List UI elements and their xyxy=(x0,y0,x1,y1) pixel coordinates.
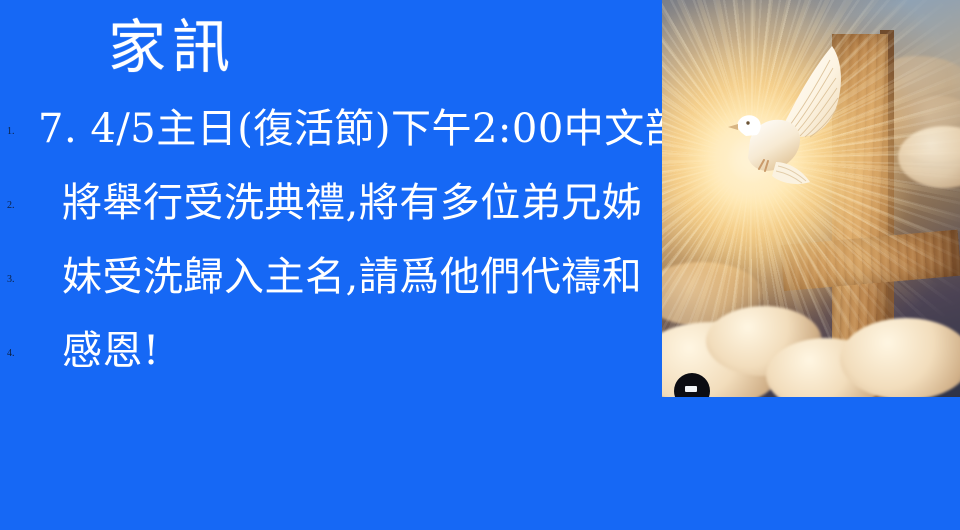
list-item-text: 感恩! xyxy=(62,323,160,379)
announcement-list: 1. 7. 4/5主日(復活節)下午2:00中文部 2. 將舉行受洗典禮,將有多… xyxy=(0,101,660,397)
slide-title: 家訊 xyxy=(108,17,628,78)
list-item-marker: 4. xyxy=(7,349,15,359)
list-item-text: 妹受洗歸入主名,請爲他們代禱和 xyxy=(62,249,642,305)
list-item-marker: 2. xyxy=(7,201,15,211)
list-item: 1. 7. 4/5主日(復活節)下午2:00中文部 xyxy=(0,101,660,175)
presentation-slide: 家訊 1. 7. 4/5主日(復活節)下午2:00中文部 2. 將舉行受洗典禮,… xyxy=(0,0,960,530)
dove-and-cross-photo[interactable] xyxy=(662,0,960,397)
white-dove-icon xyxy=(724,36,856,196)
list-item: 3. 妹受洗歸入主名,請爲他們代禱和 xyxy=(0,249,660,323)
list-item-marker: 3. xyxy=(7,275,15,285)
list-item: 2. 將舉行受洗典禮,將有多位弟兄姊 xyxy=(0,175,660,249)
list-item: 4. 感恩! xyxy=(0,323,660,397)
cloud-icon xyxy=(840,318,960,397)
list-item-text: 將舉行受洗典禮,將有多位弟兄姊 xyxy=(62,175,642,231)
list-item-marker: 1. xyxy=(7,127,15,137)
list-item-text: 7. 4/5主日(復活節)下午2:00中文部 xyxy=(38,101,685,157)
